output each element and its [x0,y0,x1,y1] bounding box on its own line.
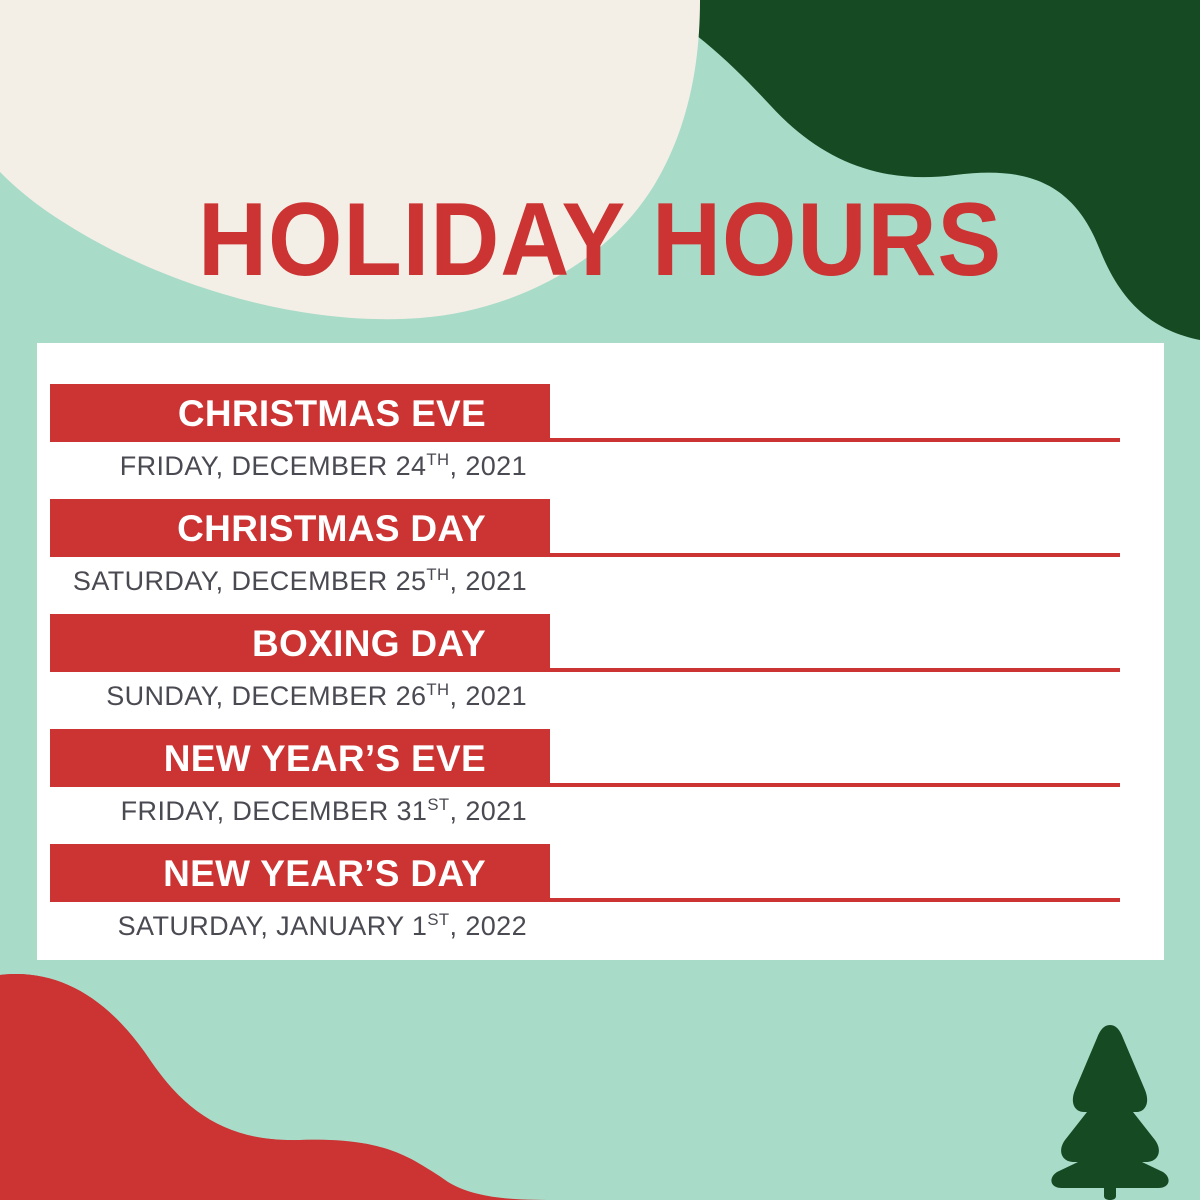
hours-write-in-rule[interactable] [550,668,1120,672]
page-title: HOLIDAY HOURS [198,188,1002,292]
date-ordinal-suffix: TH [426,565,449,584]
holiday-date: FRIDAY, DECEMBER 31ST, 2021 [121,798,527,825]
holiday-weekday-date: FRIDAY, DECEMBER 31 [121,796,428,826]
holiday-year: , 2022 [450,911,527,941]
hours-write-in-rule[interactable] [550,438,1120,442]
holiday-year: , 2021 [450,796,527,826]
holiday-weekday-date: SUNDAY, DECEMBER 26 [106,681,426,711]
holiday-name-banner: CHRISTMAS DAY [50,499,550,557]
holiday-date-line: FRIDAY, DECEMBER 24TH, 2021 [37,442,550,490]
holiday-name-label: NEW YEAR’S EVE [164,740,486,777]
holiday-name-label: CHRISTMAS EVE [178,395,486,432]
holiday-weekday-date: SATURDAY, DECEMBER 25 [73,566,427,596]
date-ordinal-suffix: ST [427,795,449,814]
holiday-weekday-date: SATURDAY, JANUARY 1 [118,911,428,941]
holiday-name-label: BOXING DAY [252,625,486,662]
page-title-wrapper: HOLIDAY HOURS [0,188,1200,292]
date-ordinal-suffix: TH [426,450,449,469]
holiday-weekday-date: FRIDAY, DECEMBER 24 [120,451,427,481]
row-banner-line: BOXING DAY [37,614,1164,672]
row-banner-line: CHRISTMAS EVE [37,384,1164,442]
holiday-name-banner: BOXING DAY [50,614,550,672]
table-row: NEW YEAR’S DAY SATURDAY, JANUARY 1ST, 20… [37,844,1164,950]
date-ordinal-suffix: TH [426,680,449,699]
row-banner-line: NEW YEAR’S EVE [37,729,1164,787]
table-row: NEW YEAR’S EVE FRIDAY, DECEMBER 31ST, 20… [37,729,1164,835]
holiday-year: , 2021 [450,451,527,481]
holiday-date-line: SATURDAY, JANUARY 1ST, 2022 [37,902,550,950]
holiday-date: SUNDAY, DECEMBER 26TH, 2021 [106,683,527,710]
holiday-year: , 2021 [450,566,527,596]
holiday-name-banner: NEW YEAR’S DAY [50,844,550,902]
holiday-date-line: SATURDAY, DECEMBER 25TH, 2021 [37,557,550,605]
row-banner-line: NEW YEAR’S DAY [37,844,1164,902]
holiday-hours-poster: HOLIDAY HOURS CHRISTMAS EVE FRIDAY, DECE… [0,0,1200,1200]
holiday-date: FRIDAY, DECEMBER 24TH, 2021 [120,453,527,480]
holiday-name-label: CHRISTMAS DAY [177,510,486,547]
holiday-name-banner: NEW YEAR’S EVE [50,729,550,787]
holiday-hours-card: CHRISTMAS EVE FRIDAY, DECEMBER 24TH, 202… [37,343,1164,960]
holiday-date: SATURDAY, DECEMBER 25TH, 2021 [73,568,527,595]
row-banner-line: CHRISTMAS DAY [37,499,1164,557]
holiday-name-label: NEW YEAR’S DAY [163,855,486,892]
table-row: CHRISTMAS EVE FRIDAY, DECEMBER 24TH, 202… [37,384,1164,490]
holiday-date-line: SUNDAY, DECEMBER 26TH, 2021 [37,672,550,720]
date-ordinal-suffix: ST [427,910,449,929]
hours-write-in-rule[interactable] [550,553,1120,557]
holiday-date-line: FRIDAY, DECEMBER 31ST, 2021 [37,787,550,835]
holiday-date: SATURDAY, JANUARY 1ST, 2022 [118,913,527,940]
holiday-year: , 2021 [450,681,527,711]
hours-write-in-rule[interactable] [550,898,1120,902]
holiday-name-banner: CHRISTMAS EVE [50,384,550,442]
hours-write-in-rule[interactable] [550,783,1120,787]
table-row: CHRISTMAS DAY SATURDAY, DECEMBER 25TH, 2… [37,499,1164,605]
table-row: BOXING DAY SUNDAY, DECEMBER 26TH, 2021 [37,614,1164,720]
